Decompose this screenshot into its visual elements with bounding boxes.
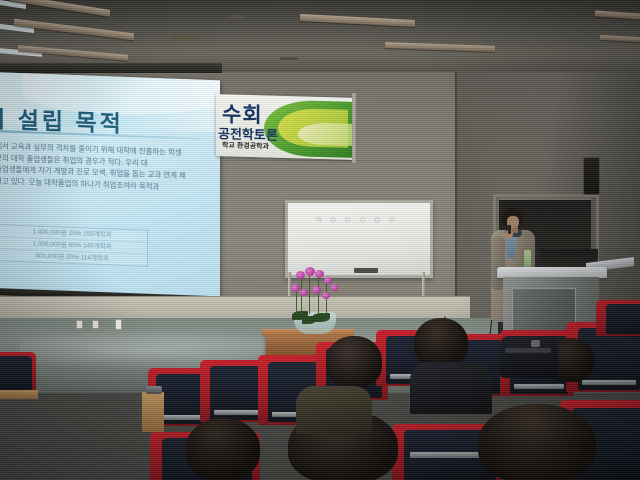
ceiling-light-icon xyxy=(600,35,640,42)
slide-body-text: 현재 대학에서 교육과 실무의 격차를 줄이기 위해 대학에 진출하는 학생 들… xyxy=(0,139,218,194)
ceiling-light-icon xyxy=(385,42,495,52)
lecture-hall-photo: 아리 설립 목적 현재 대학에서 교육과 실무의 격차를 줄이기 위해 대학에 … xyxy=(0,0,640,480)
audience-shoulders xyxy=(296,386,372,434)
orchid-bloom xyxy=(305,267,315,276)
audience-head xyxy=(326,336,382,388)
audience-shoulders xyxy=(410,362,492,414)
ceiling-vent-icon xyxy=(280,57,298,60)
microphone-icon xyxy=(508,225,511,234)
wall-outlet-icon xyxy=(76,320,83,329)
backpack xyxy=(500,336,558,378)
ceiling-fixture-icon xyxy=(172,34,198,40)
ceiling-vent-icon xyxy=(230,15,246,19)
orchid-bloom xyxy=(322,292,330,299)
audience-head xyxy=(186,418,260,480)
backpack-buckle-icon xyxy=(531,340,540,347)
banner-subtitle: 학교 환경공학과 xyxy=(222,140,269,151)
loudspeaker-icon xyxy=(583,157,600,195)
projection-screen: 아리 설립 목적 현재 대학에서 교육과 실무의 격차를 줄이기 위해 대학에 … xyxy=(0,72,220,298)
backpack-strap xyxy=(505,348,551,353)
ceiling xyxy=(0,0,640,72)
orchid-bloom xyxy=(296,271,305,279)
orchid-bloom xyxy=(312,286,321,294)
audience-head xyxy=(478,404,596,480)
orchid-bloom xyxy=(331,284,338,291)
wall-outlet-icon xyxy=(115,319,122,330)
wall-outlet-icon xyxy=(92,320,99,329)
orchid-bloom xyxy=(324,277,332,284)
orchid-bloom xyxy=(291,284,300,292)
whiteboard-marker-tray xyxy=(354,268,378,273)
whiteboard: ㅋ ㅇ ㅇ ㅇ ㅇ ㅇ xyxy=(285,200,433,278)
orchid-bloom xyxy=(315,270,324,278)
screen-housing xyxy=(0,63,222,73)
whiteboard-writing: ㅋ ㅇ ㅇ ㅇ ㅇ ㅇ xyxy=(314,213,409,225)
event-banner: 수회 공전학토론 학교 환경공학과 xyxy=(216,94,354,160)
banner-pole xyxy=(352,93,357,163)
orchid-bloom xyxy=(300,289,308,296)
ceiling-light-icon xyxy=(300,14,415,27)
ceiling-light-icon xyxy=(595,10,640,19)
slide-table: 1,400,000원 20% 155개학과 1,000,000원 60% 145… xyxy=(0,224,148,267)
audience-head xyxy=(414,318,468,368)
